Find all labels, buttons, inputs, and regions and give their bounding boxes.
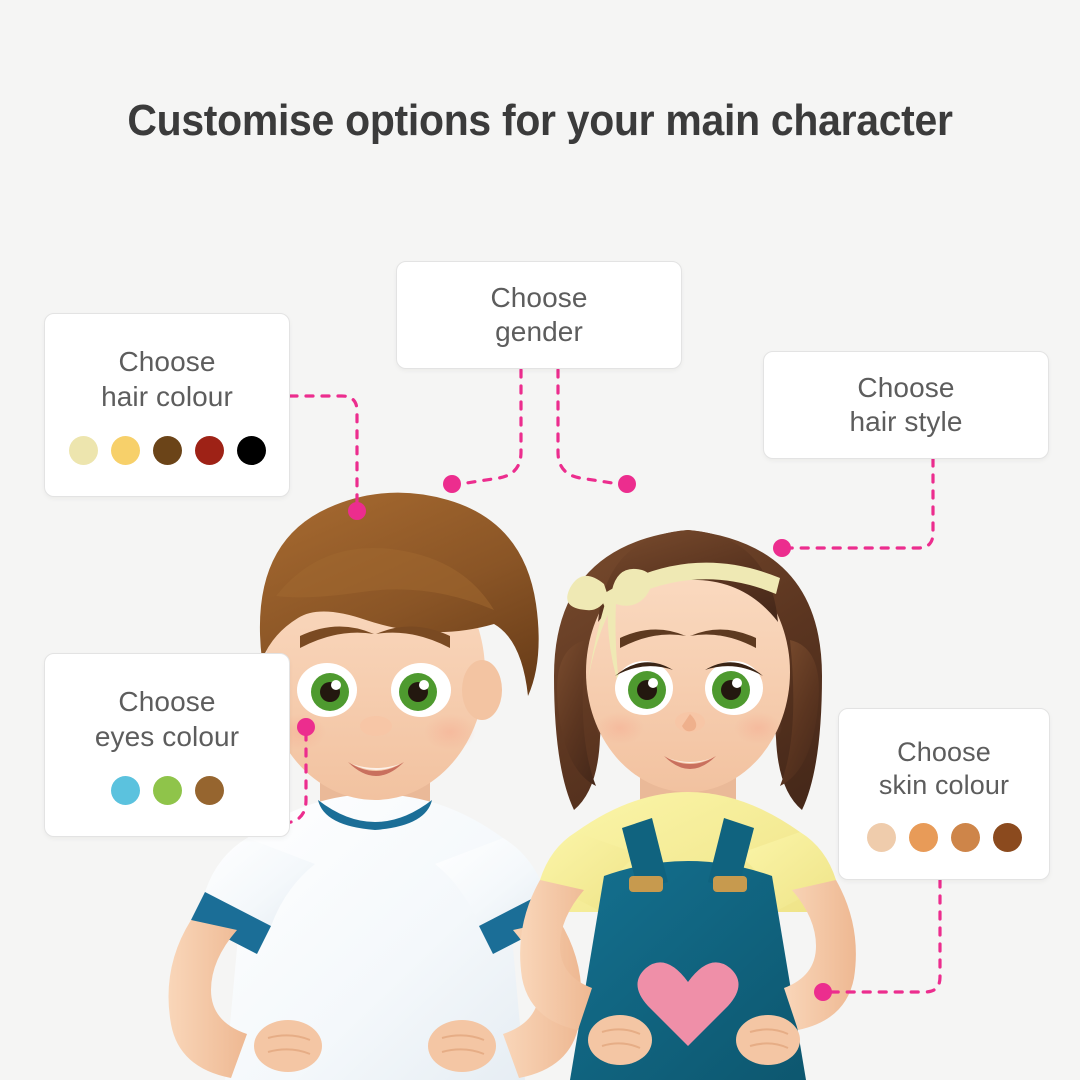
card-gender-title: Choose gender bbox=[490, 281, 587, 349]
card-hair-colour-title: Choose hair colour bbox=[101, 345, 233, 413]
card-skin-colour[interactable]: Choose skin colour bbox=[838, 708, 1050, 880]
card-hair-colour[interactable]: Choose hair colour bbox=[44, 313, 290, 497]
girl-eye-right bbox=[705, 661, 763, 715]
swatch-brown[interactable] bbox=[153, 436, 182, 465]
character-illustration bbox=[0, 0, 1080, 1080]
card-hair-style-title: Choose hair style bbox=[849, 371, 962, 439]
girl-eye-left bbox=[615, 661, 673, 715]
swatch-pale-blonde[interactable] bbox=[69, 436, 98, 465]
swatch-light[interactable] bbox=[867, 823, 896, 852]
girl-character bbox=[520, 530, 856, 1080]
swatch-tan[interactable] bbox=[951, 823, 980, 852]
card-skin-colour-title: Choose skin colour bbox=[879, 736, 1009, 802]
card-hair-style[interactable]: Choose hair style bbox=[763, 351, 1049, 459]
swatch-black[interactable] bbox=[237, 436, 266, 465]
hair-colour-swatches bbox=[69, 436, 266, 465]
swatch-golden-blonde[interactable] bbox=[111, 436, 140, 465]
swatch-auburn[interactable] bbox=[195, 436, 224, 465]
swatch-dark[interactable] bbox=[993, 823, 1022, 852]
skin-colour-swatches bbox=[867, 823, 1022, 852]
customisation-screen: Customise options for your main characte… bbox=[0, 0, 1080, 1080]
swatch-green[interactable] bbox=[153, 776, 182, 805]
card-eyes-colour[interactable]: Choose eyes colour bbox=[44, 653, 290, 837]
swatch-brown[interactable] bbox=[195, 776, 224, 805]
swatch-medium[interactable] bbox=[909, 823, 938, 852]
card-eyes-colour-title: Choose eyes colour bbox=[95, 685, 239, 753]
swatch-blue[interactable] bbox=[111, 776, 140, 805]
eyes-colour-swatches bbox=[111, 776, 224, 805]
boy-eye-right bbox=[391, 663, 451, 717]
card-gender[interactable]: Choose gender bbox=[396, 261, 682, 369]
boy-eye-left bbox=[297, 663, 357, 717]
